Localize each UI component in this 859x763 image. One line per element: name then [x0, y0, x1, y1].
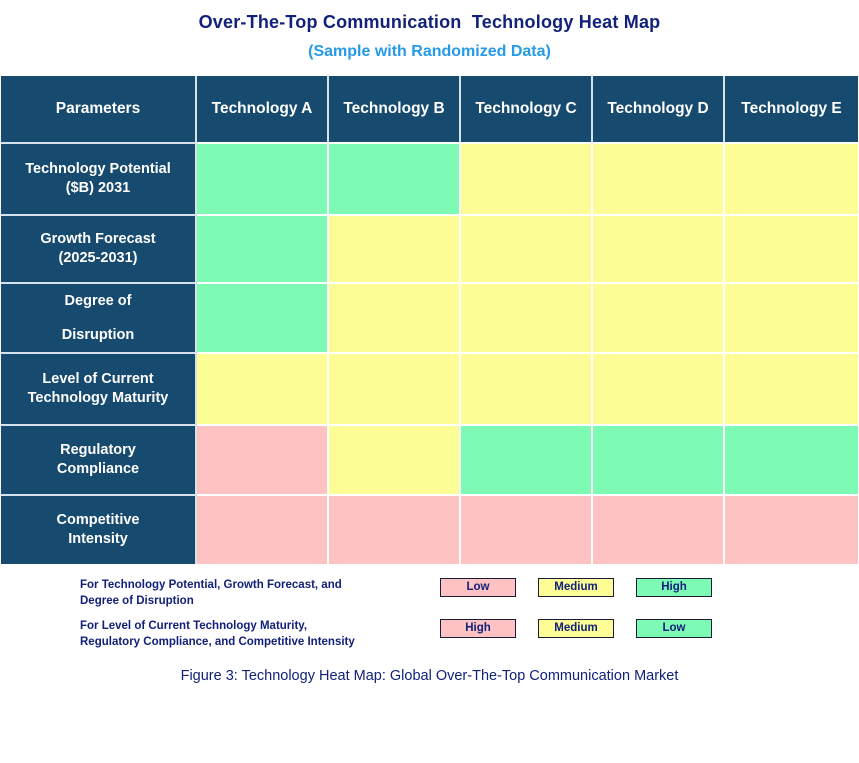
table-row: Regulatory Compliance — [1, 424, 858, 494]
heat-cell-r2-c0 — [197, 282, 329, 352]
legend-key-medium-inverse: Medium — [538, 619, 614, 638]
row-label-line1: Level of Current — [42, 371, 153, 387]
row-label-growth-forecast: Growth Forecast (2025-2031) — [1, 214, 197, 282]
legend-key-high: High — [636, 578, 712, 597]
row-label-line2: Technology Maturity — [28, 390, 169, 406]
page-title: Over-The-Top Communication Technology He… — [0, 11, 859, 33]
heat-cell-r2-c2 — [461, 282, 593, 352]
row-label-line1: Degree of — [65, 293, 132, 309]
heat-cell-r3-c0 — [197, 352, 329, 424]
table-body: Technology Potential ($B) 2031 Growth Fo… — [1, 142, 858, 564]
column-header-parameters: Parameters — [1, 76, 197, 142]
legend-key-medium: Medium — [538, 578, 614, 597]
row-label-line1: Regulatory — [60, 442, 136, 458]
heat-cell-r3-c1 — [329, 352, 461, 424]
row-label-line1: Competitive — [57, 512, 140, 528]
heat-cell-r5-c3 — [593, 494, 725, 564]
title-block: Over-The-Top Communication Technology He… — [0, 0, 859, 62]
heat-cell-r0-c4 — [725, 142, 858, 214]
heat-cell-r2-c1 — [329, 282, 461, 352]
table-row: Level of Current Technology Maturity — [1, 352, 858, 424]
row-label-competitive-intensity: Competitive Intensity — [1, 494, 197, 564]
heat-cell-r1-c4 — [725, 214, 858, 282]
legend-keys-1: Low Medium High — [440, 576, 712, 597]
row-label-line1: Growth Forecast — [40, 231, 155, 247]
heat-cell-r5-c0 — [197, 494, 329, 564]
table-row: Technology Potential ($B) 2031 — [1, 142, 858, 214]
row-label-regulatory-compliance: Regulatory Compliance — [1, 424, 197, 494]
legend-row-1: For Technology Potential, Growth Forecas… — [80, 576, 839, 609]
legend-keys-2: High Medium Low — [440, 617, 712, 638]
row-label-technology-potential: Technology Potential ($B) 2031 — [1, 142, 197, 214]
figure-caption: Figure 3: Technology Heat Map: Global Ov… — [0, 666, 859, 686]
legend-row-2: For Level of Current Technology Maturity… — [80, 617, 839, 650]
row-label-line2: (2025-2031) — [59, 250, 138, 266]
table-row: Competitive Intensity — [1, 494, 858, 564]
row-label-line2: Compliance — [57, 461, 139, 477]
heat-cell-r4-c2 — [461, 424, 593, 494]
heat-cell-r0-c0 — [197, 142, 329, 214]
legend-description-2-line2: Regulatory Compliance, and Competitive I… — [80, 634, 440, 650]
heat-cell-r3-c2 — [461, 352, 593, 424]
heat-cell-r3-c3 — [593, 352, 725, 424]
heat-cell-r0-c1 — [329, 142, 461, 214]
heat-cell-r2-c3 — [593, 282, 725, 352]
heat-cell-r5-c2 — [461, 494, 593, 564]
legend-description-1: For Technology Potential, Growth Forecas… — [80, 576, 440, 609]
row-label-line2: Disruption — [62, 327, 135, 343]
row-label-degree-of-disruption: Degree of Disruption — [1, 282, 197, 352]
heat-cell-r1-c2 — [461, 214, 593, 282]
legend: For Technology Potential, Growth Forecas… — [0, 576, 859, 650]
heat-cell-r1-c0 — [197, 214, 329, 282]
heat-cell-r4-c0 — [197, 424, 329, 494]
legend-description-2-line1: For Level of Current Technology Maturity… — [80, 620, 307, 632]
heatmap-figure: Over-The-Top Communication Technology He… — [0, 0, 859, 763]
row-label-line2: Intensity — [68, 531, 128, 547]
heatmap-table: Parameters Technology A Technology B Tec… — [1, 76, 858, 564]
legend-description-1-line2: Degree of Disruption — [80, 593, 440, 609]
heatmap-container: Parameters Technology A Technology B Tec… — [0, 76, 859, 564]
table-row: Degree of Disruption — [1, 282, 858, 352]
heat-cell-r4-c4 — [725, 424, 858, 494]
heat-cell-r5-c4 — [725, 494, 858, 564]
column-header-technology-b: Technology B — [329, 76, 461, 142]
header-row: Parameters Technology A Technology B Tec… — [1, 76, 858, 142]
heat-cell-r3-c4 — [725, 352, 858, 424]
heat-cell-r5-c1 — [329, 494, 461, 564]
table-header: Parameters Technology A Technology B Tec… — [1, 76, 858, 142]
heat-cell-r4-c1 — [329, 424, 461, 494]
heat-cell-r0-c2 — [461, 142, 593, 214]
row-label-level-of-current-technology-maturity: Level of Current Technology Maturity — [1, 352, 197, 424]
legend-key-low: Low — [440, 578, 516, 597]
column-header-technology-c: Technology C — [461, 76, 593, 142]
legend-description-2: For Level of Current Technology Maturity… — [80, 617, 440, 650]
heat-cell-r1-c1 — [329, 214, 461, 282]
heat-cell-r1-c3 — [593, 214, 725, 282]
column-header-technology-e: Technology E — [725, 76, 858, 142]
legend-key-high-inverse: High — [440, 619, 516, 638]
table-row: Growth Forecast (2025-2031) — [1, 214, 858, 282]
row-label-line1: Technology Potential — [25, 161, 171, 177]
row-label-line2: ($B) 2031 — [66, 180, 130, 196]
legend-key-low-inverse: Low — [636, 619, 712, 638]
page-subtitle: (Sample with Randomized Data) — [0, 42, 859, 62]
heat-cell-r0-c3 — [593, 142, 725, 214]
heat-cell-r2-c4 — [725, 282, 858, 352]
legend-description-1-line1: For Technology Potential, Growth Forecas… — [80, 579, 342, 591]
column-header-technology-d: Technology D — [593, 76, 725, 142]
column-header-technology-a: Technology A — [197, 76, 329, 142]
heat-cell-r4-c3 — [593, 424, 725, 494]
